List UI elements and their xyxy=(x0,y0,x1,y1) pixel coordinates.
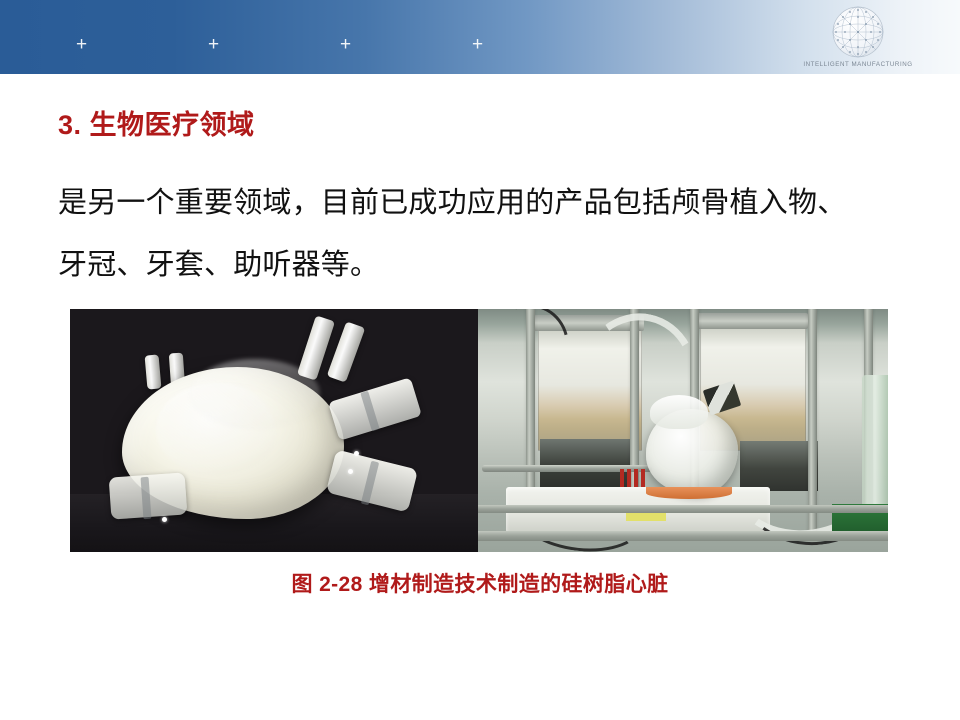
heart-model-top-ports xyxy=(650,395,708,429)
photo-heart-test-rig xyxy=(478,309,888,552)
header-band: + + + + xyxy=(0,0,960,74)
photo-silicone-heart xyxy=(70,309,478,552)
heart-mount-base xyxy=(646,487,732,499)
fluid-bottle xyxy=(862,375,888,507)
dotted-sphere-globe-icon xyxy=(830,4,886,60)
plus-decor-icon-1: + xyxy=(76,35,87,54)
rig-rail xyxy=(478,505,888,513)
slide-title: 3. 生物医疗领域 xyxy=(58,103,255,142)
body-line-1: 是另一个重要领域，目前已成功应用的产品包括颅骨植入物、 xyxy=(58,172,928,234)
heart-atrium-lobe xyxy=(190,359,320,429)
heart-vessel-tube xyxy=(145,354,162,389)
heart-vessel-tube xyxy=(327,321,366,382)
heart-outlet-port xyxy=(328,377,422,440)
figure-caption: 图 2-28 增材制造技术制造的硅树脂心脏 xyxy=(0,568,960,598)
highlight-speck xyxy=(348,469,353,474)
slide-body-text: 是另一个重要领域，目前已成功应用的产品包括颅骨植入物、 牙冠、牙套、助听器等。 xyxy=(58,172,928,296)
brand-logo: INTELLIGENT MANUFACTURING xyxy=(798,4,918,72)
red-marker-clips xyxy=(620,469,646,487)
plus-decor-icon-2: + xyxy=(208,35,219,54)
plus-decor-icon-4: + xyxy=(472,35,483,54)
body-line-2: 牙冠、牙套、助听器等。 xyxy=(58,234,928,296)
lab-vessel-cap xyxy=(696,313,808,329)
brand-logo-text: INTELLIGENT MANUFACTURING xyxy=(798,61,918,68)
highlight-speck xyxy=(354,451,359,456)
plus-decor-icon-3: + xyxy=(340,35,351,54)
figure-image-pair xyxy=(70,309,888,552)
highlight-speck xyxy=(162,517,167,522)
rig-rail xyxy=(478,531,888,541)
